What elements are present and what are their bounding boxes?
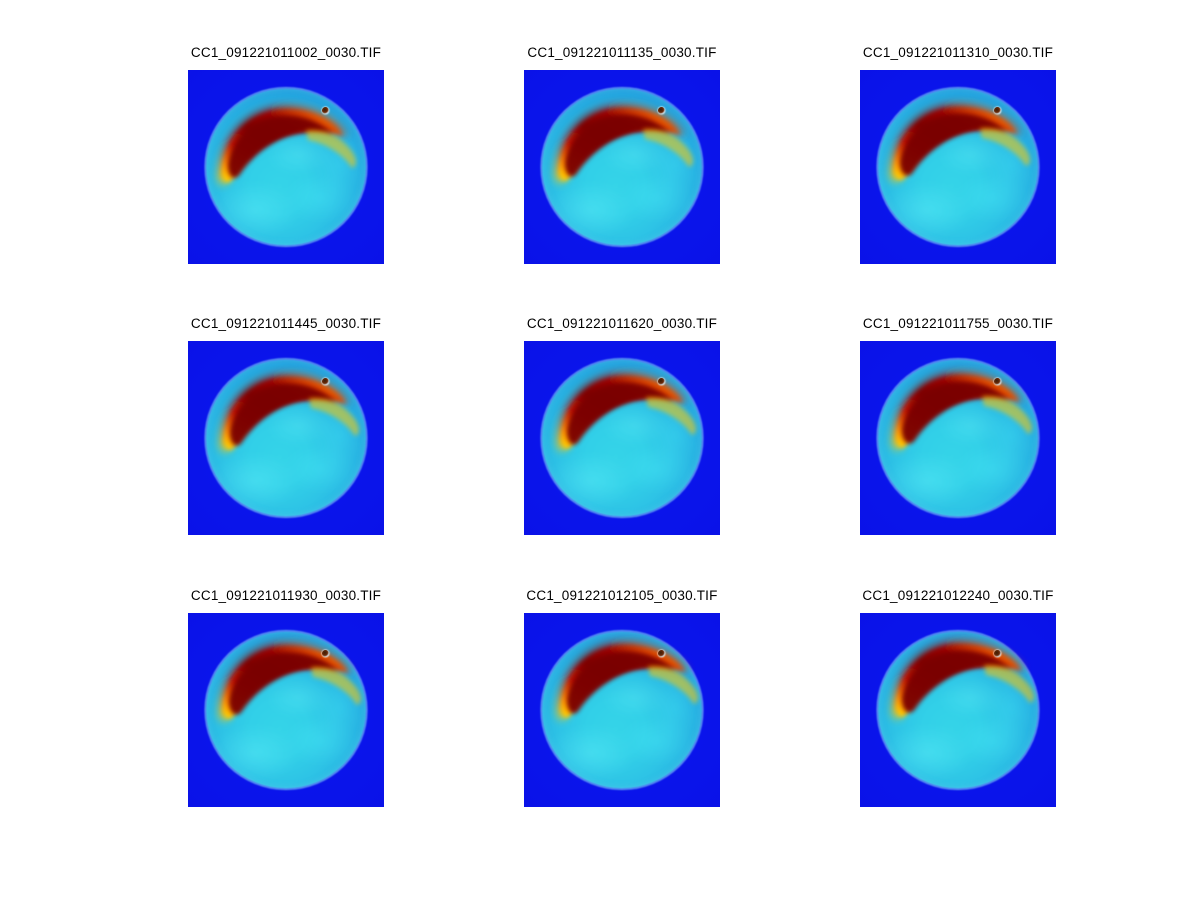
- hot-band-svg: [860, 613, 1056, 807]
- hot-crescent-band: [860, 70, 1056, 264]
- hot-band-svg: [524, 341, 720, 535]
- hot-crescent-band: [524, 70, 720, 264]
- subplot-panel-8: CC1_091221012105_0030.TIF: [524, 613, 720, 807]
- panel-title-5: CC1_091221011620_0030.TIF: [527, 316, 717, 332]
- hot-band-svg: [860, 70, 1056, 264]
- thermal-image-4[interactable]: [188, 341, 384, 535]
- hot-crescent-band: [860, 341, 1056, 535]
- subplot-panel-9: CC1_091221012240_0030.TIF: [860, 613, 1056, 807]
- hot-band-svg: [860, 341, 1056, 535]
- hot-band-svg: [188, 341, 384, 535]
- subplot-panel-2: CC1_091221011135_0030.TIF: [524, 70, 720, 264]
- thermal-image-8[interactable]: [524, 613, 720, 807]
- panel-title-7: CC1_091221011930_0030.TIF: [191, 588, 381, 604]
- hot-crescent-band: [524, 613, 720, 807]
- subplot-panel-1: CC1_091221011002_0030.TIF: [188, 70, 384, 264]
- thermal-image-6[interactable]: [860, 341, 1056, 535]
- subplot-panel-3: CC1_091221011310_0030.TIF: [860, 70, 1056, 264]
- hot-crescent-band: [524, 341, 720, 535]
- hot-crescent-band: [188, 70, 384, 264]
- hot-band-svg: [524, 613, 720, 807]
- thermal-image-2[interactable]: [524, 70, 720, 264]
- hot-crescent-band: [188, 341, 384, 535]
- thermal-image-7[interactable]: [188, 613, 384, 807]
- subplot-panel-7: CC1_091221011930_0030.TIF: [188, 613, 384, 807]
- hot-crescent-band: [188, 613, 384, 807]
- panel-title-4: CC1_091221011445_0030.TIF: [191, 316, 381, 332]
- panel-title-1: CC1_091221011002_0030.TIF: [191, 45, 381, 61]
- subplot-panel-5: CC1_091221011620_0030.TIF: [524, 341, 720, 535]
- hot-crescent-band: [860, 613, 1056, 807]
- panel-title-8: CC1_091221012105_0030.TIF: [526, 588, 717, 604]
- hot-band-svg: [188, 70, 384, 264]
- subplot-panel-6: CC1_091221011755_0030.TIF: [860, 341, 1056, 535]
- hot-band-svg: [188, 613, 384, 807]
- panel-title-3: CC1_091221011310_0030.TIF: [863, 45, 1053, 61]
- subplot-montage: CC1_091221011002_0030.TIF: [0, 0, 1201, 901]
- thermal-image-9[interactable]: [860, 613, 1056, 807]
- thermal-image-5[interactable]: [524, 341, 720, 535]
- thermal-image-3[interactable]: [860, 70, 1056, 264]
- panel-title-2: CC1_091221011135_0030.TIF: [527, 45, 716, 61]
- hot-band-svg: [524, 70, 720, 264]
- thermal-image-1[interactable]: [188, 70, 384, 264]
- panel-title-6: CC1_091221011755_0030.TIF: [863, 316, 1053, 332]
- subplot-panel-4: CC1_091221011445_0030.TIF: [188, 341, 384, 535]
- panel-title-9: CC1_091221012240_0030.TIF: [862, 588, 1053, 604]
